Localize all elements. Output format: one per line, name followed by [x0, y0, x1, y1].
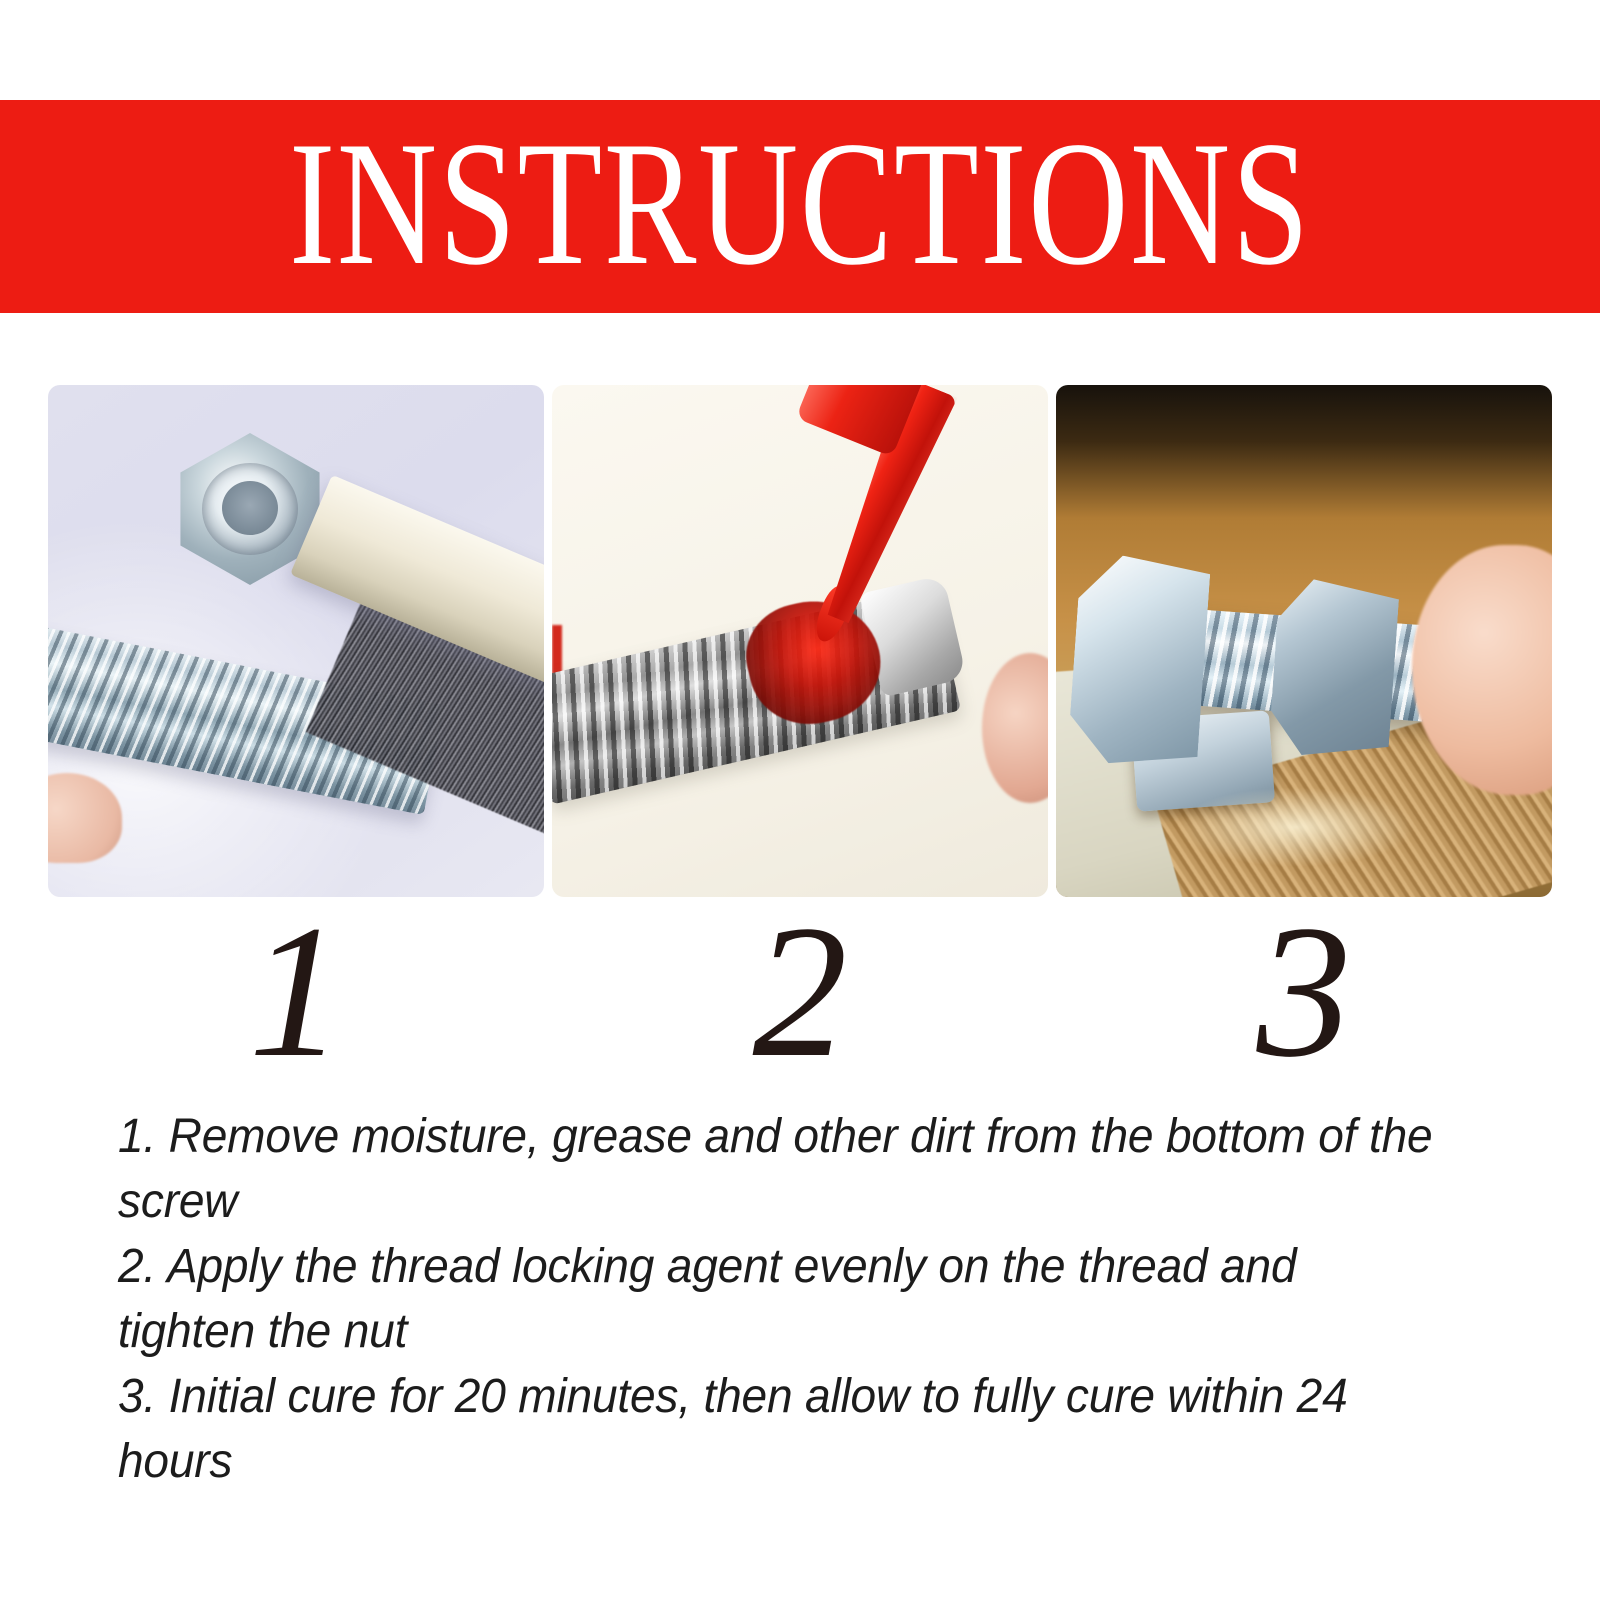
- instruction-line-2: 2. Apply the thread locking agent evenly…: [118, 1234, 1433, 1364]
- page-title: INSTRUCTIONS: [289, 114, 1311, 292]
- instruction-line-3: 3. Initial cure for 20 minutes, then all…: [118, 1364, 1433, 1494]
- step-number-3: 3: [1056, 900, 1552, 1085]
- step-image-strip: [48, 385, 1552, 897]
- instructions-title-banner: INSTRUCTIONS: [0, 100, 1600, 313]
- instructions-text-block: 1. Remove moisture, grease and other dir…: [118, 1104, 1433, 1494]
- bolt-head-icon: [1067, 553, 1211, 770]
- step-1-photo: [48, 385, 544, 897]
- step-number-1: 1: [48, 900, 544, 1085]
- tightened-nut-icon: [1268, 577, 1400, 761]
- step-3-photo: [1056, 385, 1552, 897]
- step-2-photo: [552, 385, 1048, 897]
- finger-icon: [982, 653, 1048, 803]
- step-number-2: 2: [552, 900, 1048, 1085]
- step-number-row: 1 2 3: [48, 900, 1552, 1085]
- instruction-line-1: 1. Remove moisture, grease and other dir…: [118, 1104, 1433, 1234]
- photo-3-highlight: [1176, 787, 1416, 867]
